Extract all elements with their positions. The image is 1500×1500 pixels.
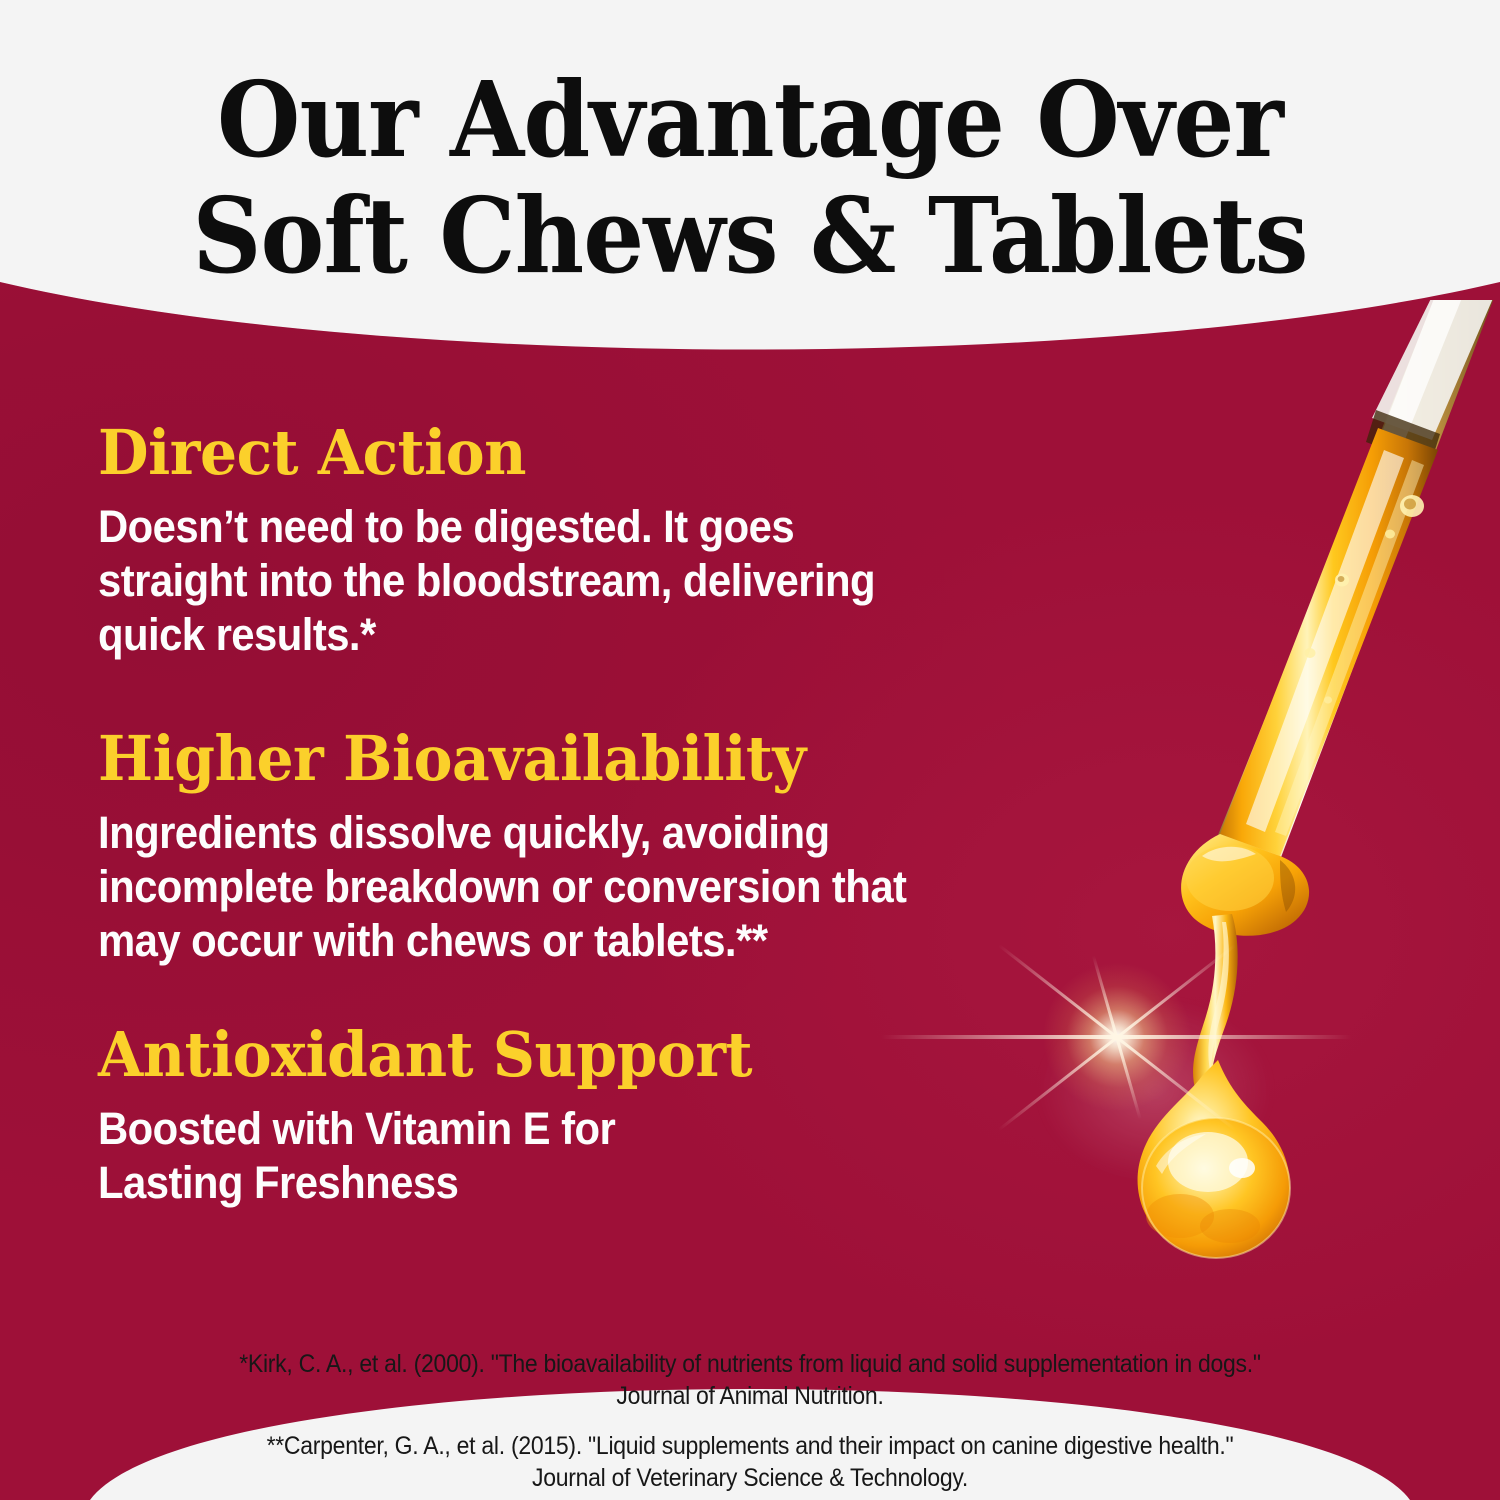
- feature-body-line: Lasting Freshness: [98, 1156, 1093, 1210]
- feature-antioxidant-support: Antioxidant Support Boosted with Vitamin…: [98, 1020, 1168, 1210]
- feature-body-line: Boosted with Vitamin E for: [98, 1102, 1093, 1156]
- footnote-line: Journal of Animal Nutrition.: [60, 1380, 1440, 1412]
- feature-body-line: Ingredients dissolve quickly, avoiding: [98, 806, 1093, 860]
- feature-heading-direct-action: Direct Action: [98, 418, 1104, 488]
- page-title-line-1: Our Advantage Over: [60, 62, 1440, 178]
- feature-body-direct-action: Doesn’t need to be digested. It goes str…: [98, 500, 1093, 662]
- feature-body-line: incomplete breakdown or conversion that: [98, 860, 1093, 914]
- feature-direct-action: Direct Action Doesn’t need to be digeste…: [98, 418, 1168, 662]
- feature-higher-bioavailability: Higher Bioavailability Ingredients disso…: [98, 724, 1168, 968]
- feature-body-antioxidant-support: Boosted with Vitamin E for Lasting Fresh…: [98, 1102, 1093, 1210]
- feature-body-line: may occur with chews or tablets.**: [98, 914, 1093, 968]
- feature-body-higher-bioavailability: Ingredients dissolve quickly, avoiding i…: [98, 806, 1093, 968]
- feature-list: Direct Action Doesn’t need to be digeste…: [98, 418, 1168, 1210]
- footnote-line: Journal of Veterinary Science & Technolo…: [60, 1462, 1440, 1494]
- feature-heading-antioxidant-support: Antioxidant Support: [98, 1020, 1104, 1090]
- page-title-line-2: Soft Chews & Tablets: [60, 178, 1440, 294]
- infographic-page: Our Advantage Over Soft Chews & Tablets …: [0, 0, 1500, 1500]
- feature-heading-higher-bioavailability: Higher Bioavailability: [98, 724, 1104, 794]
- footnote-kirk: *Kirk, C. A., et al. (2000). "The bioava…: [60, 1348, 1440, 1412]
- footnote-carpenter: **Carpenter, G. A., et al. (2015). "Liqu…: [60, 1430, 1440, 1494]
- footnote-line: *Kirk, C. A., et al. (2000). "The bioava…: [60, 1348, 1440, 1380]
- feature-body-line: straight into the bloodstream, deliverin…: [98, 554, 1093, 608]
- feature-body-line: Doesn’t need to be digested. It goes: [98, 500, 1093, 554]
- footnote-line: **Carpenter, G. A., et al. (2015). "Liqu…: [60, 1430, 1440, 1462]
- feature-body-line: quick results.*: [98, 608, 1093, 662]
- footnotes: *Kirk, C. A., et al. (2000). "The bioava…: [0, 1348, 1500, 1500]
- page-title: Our Advantage Over Soft Chews & Tablets: [0, 62, 1500, 294]
